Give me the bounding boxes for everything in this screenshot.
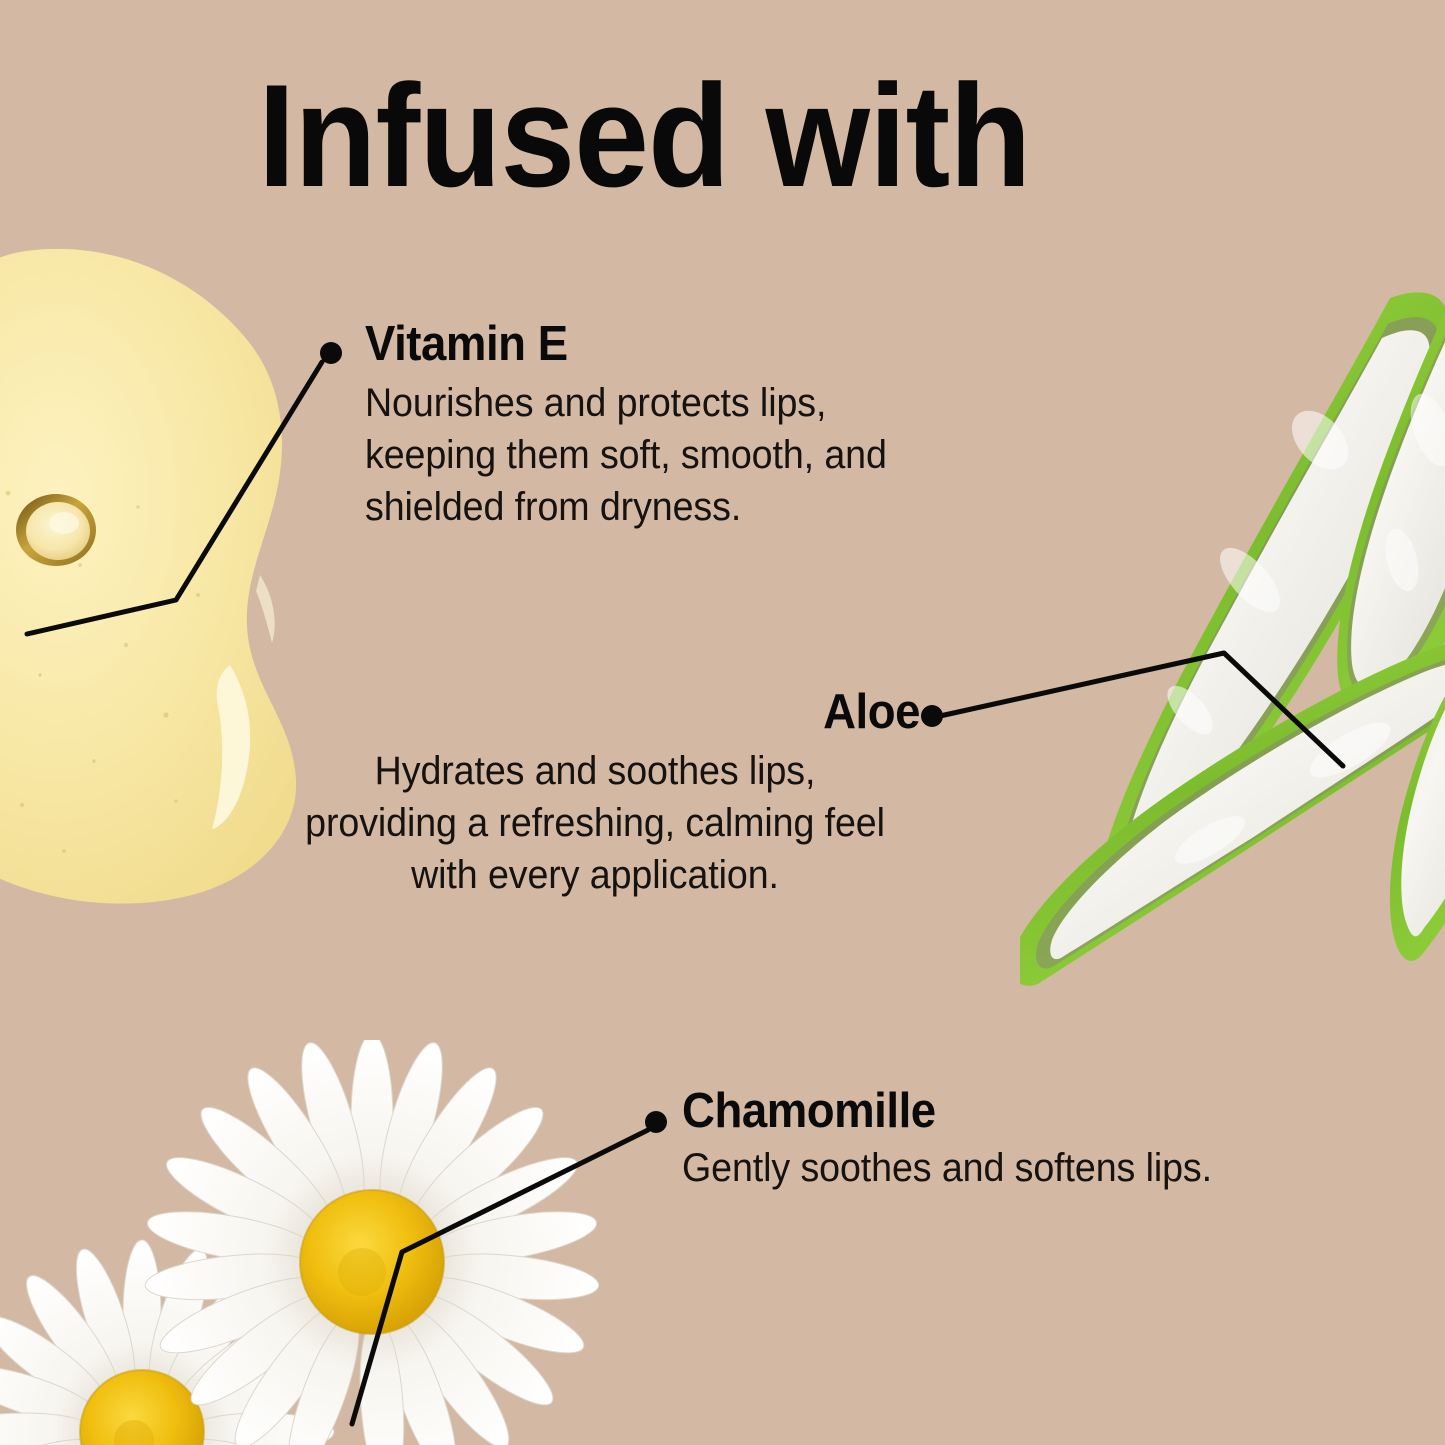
- ingredient-description-chamomille: Gently soothes and softens lips.: [682, 1142, 1212, 1194]
- callout-dot-vitamin-e: [320, 342, 342, 364]
- ingredient-description-vitamin-e: Nourishes and protects lips, keeping the…: [365, 377, 887, 533]
- callout-chamomille: Chamomille Gently soothes and softens li…: [682, 1085, 1246, 1194]
- callout-dot-aloe: [921, 705, 943, 727]
- description-line: keeping them soft, smooth, and: [365, 429, 887, 481]
- page-title: Infused with: [258, 62, 1030, 211]
- callout-aloe: Aloe Hydrates and soothes lips, providin…: [270, 686, 920, 901]
- description-line: providing a refreshing, calming feel: [290, 797, 901, 849]
- callout-vitamin-e: Vitamin E Nourishes and protects lips, k…: [365, 318, 920, 533]
- description-line: Nourishes and protects lips,: [365, 377, 887, 429]
- ingredient-description-aloe: Hydrates and soothes lips, providing a r…: [290, 745, 901, 901]
- description-line: Hydrates and soothes lips,: [290, 745, 901, 797]
- ingredient-name-chamomille: Chamomille: [682, 1085, 1206, 1138]
- infographic-canvas: Infused with Vitamin E Nourishes and pro…: [0, 0, 1445, 1445]
- ingredient-name-aloe: Aloe: [316, 686, 921, 739]
- description-line: shielded from dryness.: [365, 481, 887, 533]
- leader-line-chamomille: [352, 1130, 648, 1424]
- ingredient-name-vitamin-e: Vitamin E: [365, 318, 881, 371]
- description-line: Gently soothes and softens lips.: [682, 1142, 1212, 1194]
- leader-line-vitamin-e: [27, 362, 322, 634]
- leader-line-aloe: [940, 653, 1343, 766]
- callout-dot-chamomille: [645, 1111, 667, 1133]
- description-line: with every application.: [290, 849, 901, 901]
